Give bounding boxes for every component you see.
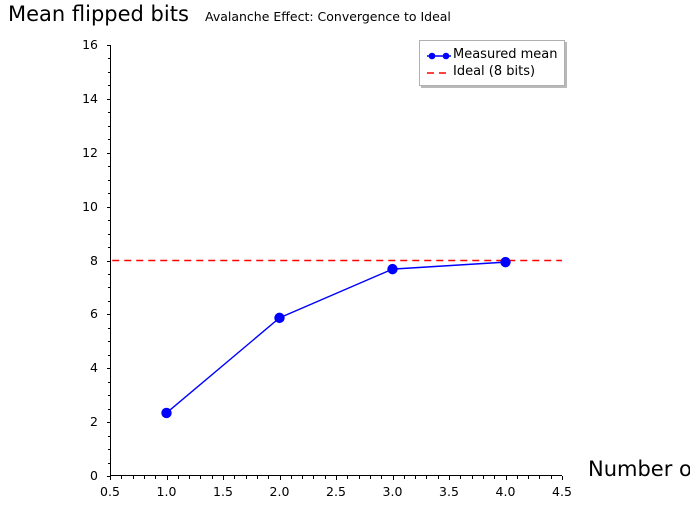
x-tick-minor [178,476,179,479]
y-tick-label: 16 [82,37,98,52]
x-tick-label: 3.0 [383,484,403,499]
y-tick-label: 6 [90,306,98,321]
x-tick-major [336,476,337,480]
measured-line [167,262,506,413]
y-tick-label: 8 [90,253,98,268]
x-tick-minor [381,476,382,479]
legend-line-marker-icon [425,48,453,62]
plot-axes: 0246810121416 0.51.01.52.02.53.03.54.04.… [110,45,562,476]
legend-label-measured: Measured mean [453,47,558,62]
x-tick-minor [257,476,258,479]
x-tick-minor [426,476,427,479]
y-tick-label: 10 [82,199,98,214]
x-tick-label: 1.0 [157,484,177,499]
x-tick-major [449,476,450,480]
y-tick-label: 14 [82,91,98,106]
x-tick-major [506,476,507,480]
x-tick-minor [359,476,360,479]
y-tick-label: 12 [82,145,98,160]
x-tick-minor [234,476,235,479]
y-tick-label: 2 [90,414,98,429]
x-tick-minor [494,476,495,479]
x-tick-minor [325,476,326,479]
y-axis-label: Mean flipped bits [8,0,189,28]
data-point-marker [500,257,510,267]
x-axis-label: Number of [588,455,690,483]
x-tick-major [562,476,563,480]
x-tick-minor [121,476,122,479]
chart-title: Avalanche Effect: Convergence to Ideal [205,9,451,25]
x-tick-minor [200,476,201,479]
x-tick-minor [212,476,213,479]
legend-item-measured: Measured mean [425,46,558,63]
legend-item-ideal: Ideal (8 bits) [425,63,558,80]
x-tick-label: 4.5 [552,484,572,499]
x-tick-minor [313,476,314,479]
x-tick-label: 0.5 [100,484,120,499]
x-tick-major [110,476,111,480]
y-tick-label: 4 [90,360,98,375]
x-tick-minor [133,476,134,479]
x-tick-minor [268,476,269,479]
x-tick-major [167,476,168,480]
x-tick-minor [528,476,529,479]
x-tick-minor [438,476,439,479]
x-tick-minor [370,476,371,479]
x-tick-minor [415,476,416,479]
x-tick-minor [302,476,303,479]
data-point-marker [274,313,284,323]
x-tick-label: 2.5 [326,484,346,499]
x-tick-label: 3.5 [439,484,459,499]
x-tick-minor [472,476,473,479]
x-tick-minor [539,476,540,479]
x-tick-minor [155,476,156,479]
chart-legend: Measured mean Ideal (8 bits) [419,40,565,86]
x-tick-minor [189,476,190,479]
chart-figure: Mean flipped bits Avalanche Effect: Conv… [0,0,690,514]
x-tick-minor [517,476,518,479]
data-point-marker [387,264,397,274]
x-tick-label: 2.0 [270,484,290,499]
x-tick-minor [483,476,484,479]
x-tick-major [280,476,281,480]
y-tick-label: 0 [90,468,98,483]
plot-canvas [110,45,562,476]
x-tick-minor [460,476,461,479]
x-tick-minor [347,476,348,479]
data-point-marker [161,408,171,418]
x-tick-minor [246,476,247,479]
legend-dashed-line-icon [425,65,453,79]
x-tick-minor [404,476,405,479]
x-tick-label: 1.5 [213,484,233,499]
x-tick-major [223,476,224,480]
legend-label-ideal: Ideal (8 bits) [453,64,535,79]
x-tick-minor [291,476,292,479]
measured-markers [161,257,510,418]
x-tick-minor [551,476,552,479]
x-tick-major [393,476,394,480]
x-tick-label: 4.0 [496,484,516,499]
x-tick-minor [144,476,145,479]
